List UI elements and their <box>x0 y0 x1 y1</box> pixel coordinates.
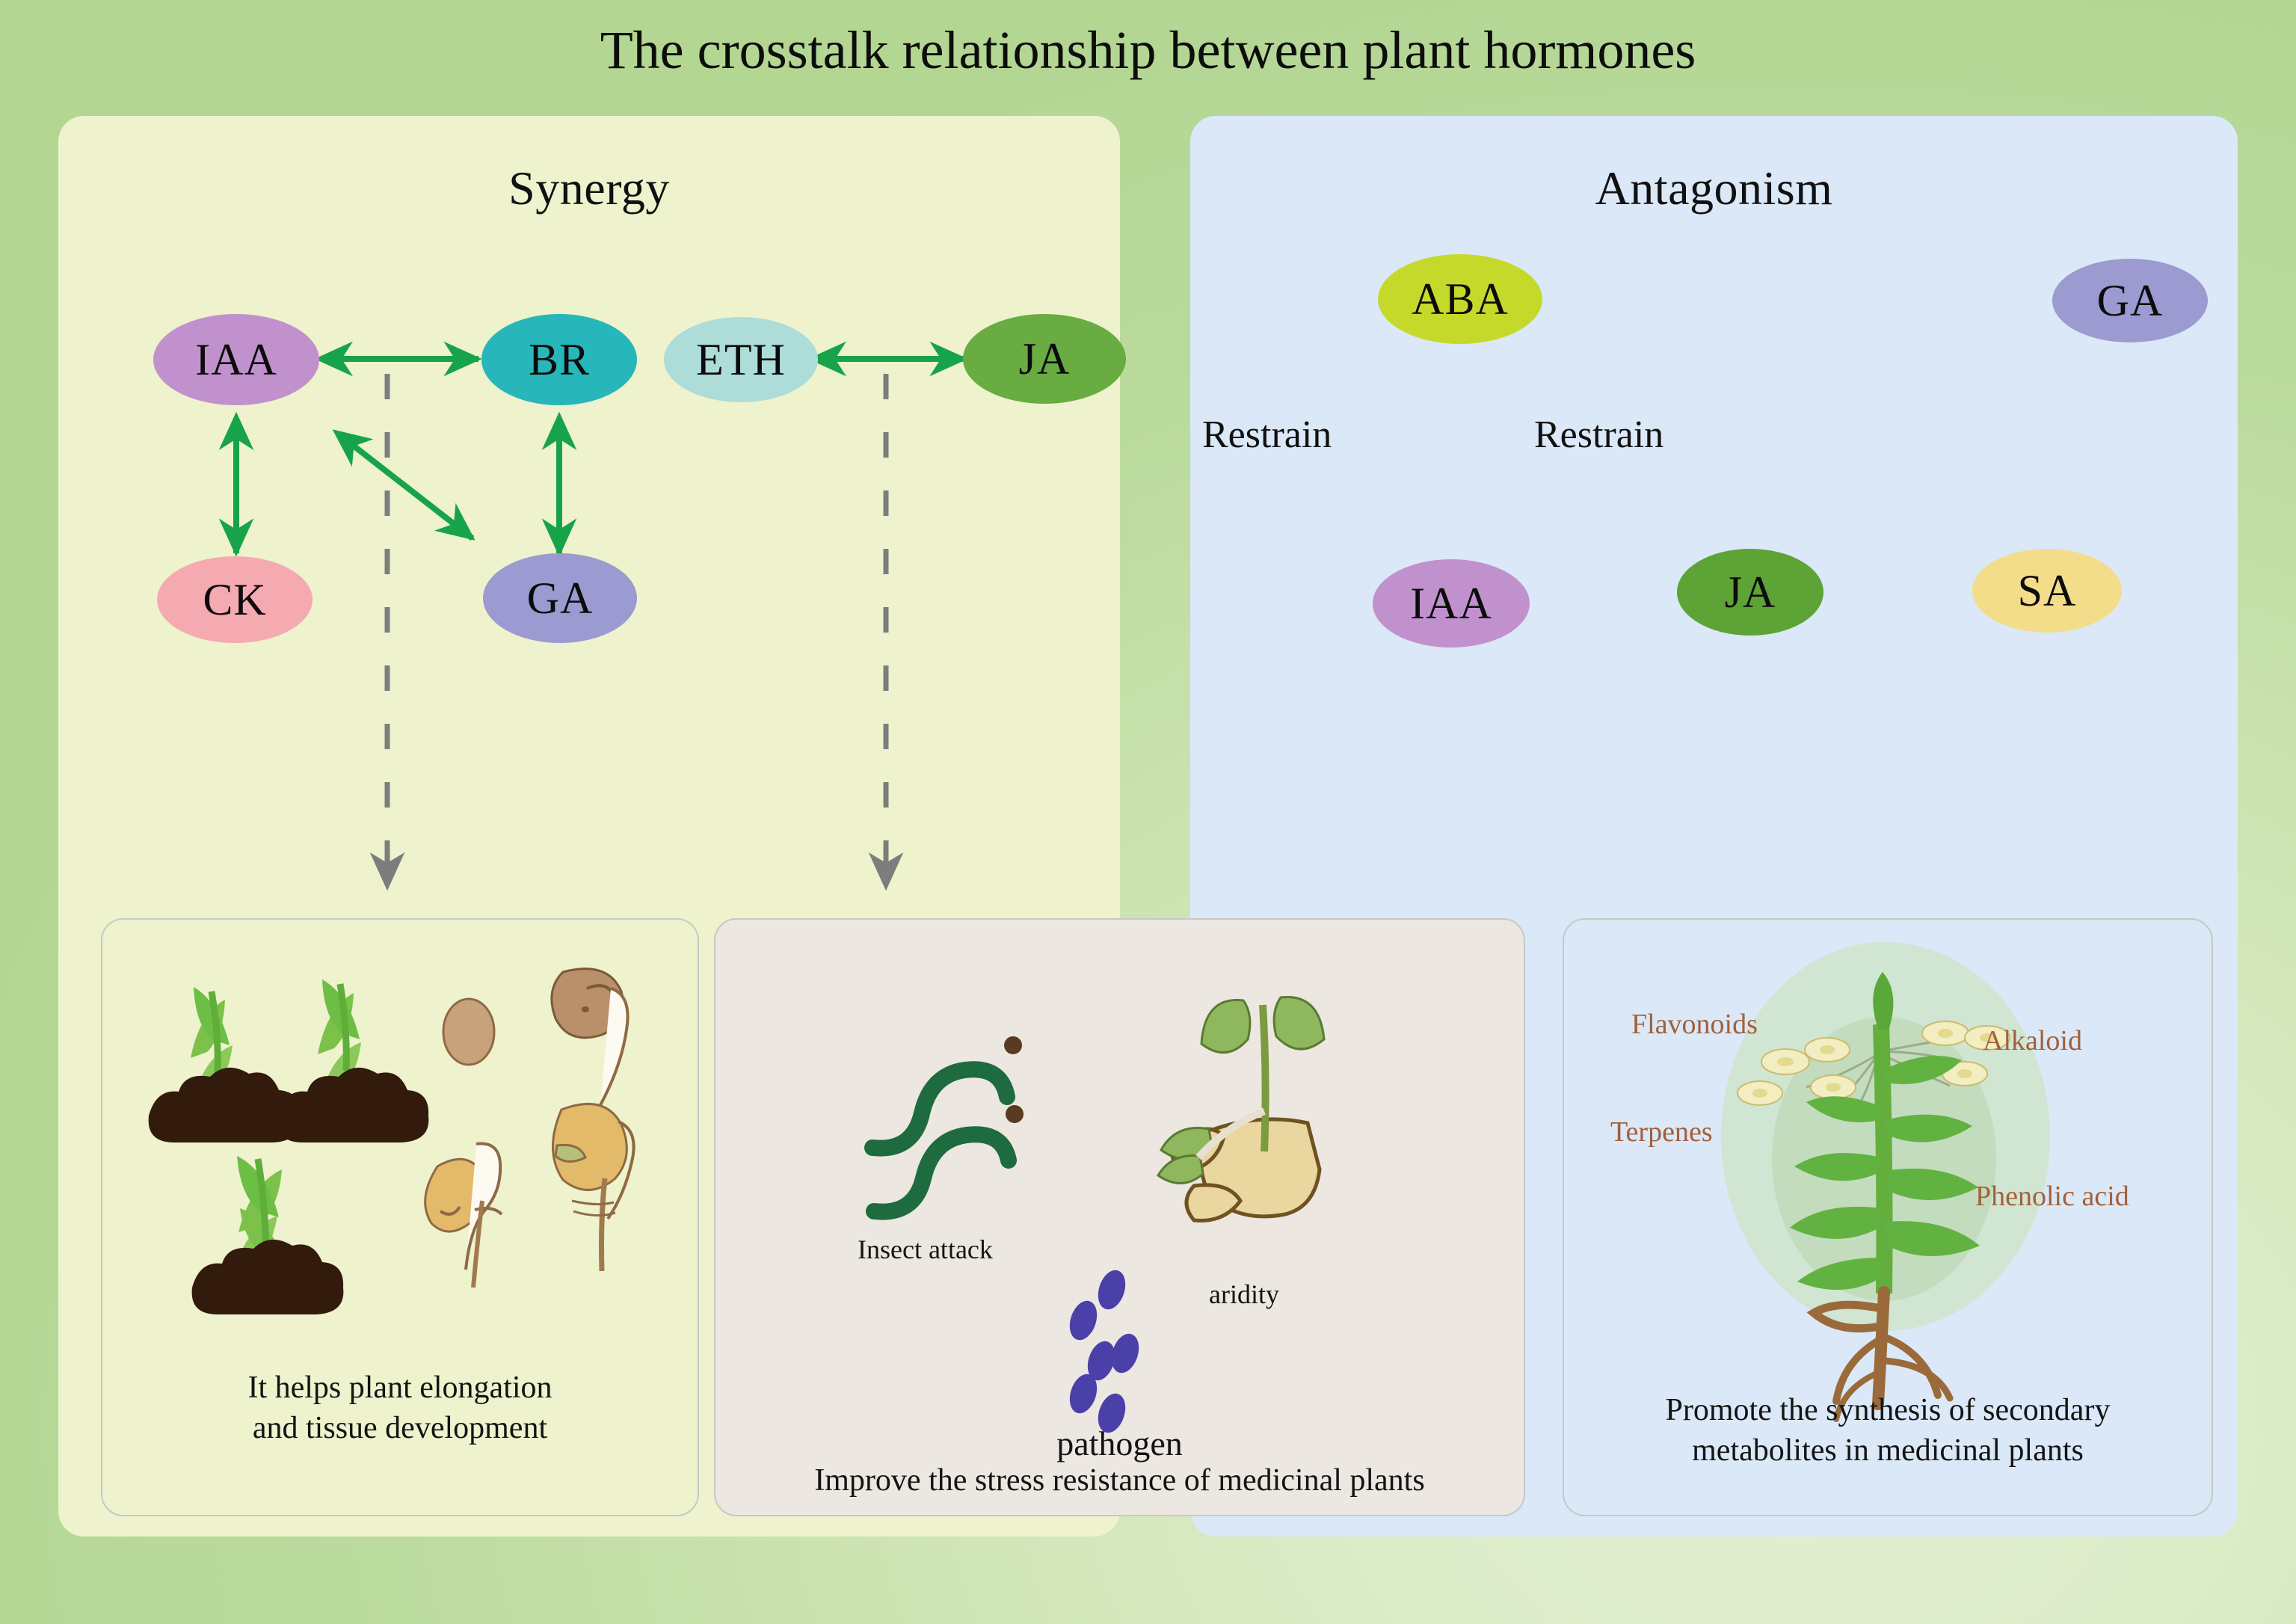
node-label: ETH <box>696 337 786 382</box>
label-alkaloid: Alkaloid <box>1983 1024 2082 1057</box>
node-antagonism-iaa[interactable]: IAA <box>1373 559 1530 648</box>
node-label: BR <box>529 337 590 382</box>
node-label: JA <box>1725 570 1776 615</box>
panel-synergy-title: Synergy <box>58 161 1120 216</box>
seedling-icon <box>277 979 429 1142</box>
box-right-caption: Promote the synthesis of secondary metab… <box>1564 1391 2212 1471</box>
info-box-stress-resistance: Insect attack aridity pathogen Improve t… <box>714 918 1525 1516</box>
box-mid-caption: Improve the stress resistance of medicin… <box>715 1461 1524 1501</box>
stress-illustration <box>715 920 1527 1443</box>
node-antagonism-sa[interactable]: SA <box>1972 549 2122 633</box>
label-terpenes: Terpenes <box>1610 1116 1713 1148</box>
node-label: GA <box>527 576 594 621</box>
node-label: IAA <box>195 337 277 382</box>
node-label: ABA <box>1412 277 1509 322</box>
label-aridity: aridity <box>1209 1279 1279 1310</box>
germinating-seed-icon <box>425 1144 502 1288</box>
box-left-caption: It helps plant elongation and tissue dev… <box>102 1368 698 1449</box>
node-synergy-ck[interactable]: CK <box>157 556 313 643</box>
seedling-icon <box>192 1156 344 1314</box>
panel-antagonism-title: Antagonism <box>1190 161 2238 216</box>
germinating-seed-icon <box>553 1104 633 1271</box>
germinating-seed-icon <box>552 969 628 1105</box>
node-synergy-ga[interactable]: GA <box>483 553 637 643</box>
node-antagonism-aba[interactable]: ABA <box>1378 254 1542 344</box>
node-synergy-eth[interactable]: ETH <box>664 317 818 402</box>
insect-worm-icon <box>874 1105 1024 1212</box>
plant-stem <box>1881 1024 1885 1294</box>
insect-worm-icon <box>872 1036 1022 1148</box>
page-title: The crosstalk relationship between plant… <box>0 19 2296 81</box>
node-antagonism-ga[interactable]: GA <box>2052 259 2208 342</box>
label-flavonoids: Flavonoids <box>1631 1008 1758 1041</box>
node-label: CK <box>203 577 266 622</box>
seedling-illustration <box>102 920 701 1398</box>
info-box-elongation: It helps plant elongation and tissue dev… <box>101 918 699 1516</box>
aridity-icon <box>1158 997 1324 1220</box>
node-label: JA <box>1019 336 1071 381</box>
pathogen-icon <box>1065 1267 1143 1436</box>
label-phenolic-acid: Phenolic acid <box>1975 1180 2129 1213</box>
label-insect-attack: Insect attack <box>858 1234 993 1265</box>
info-box-metabolites: Flavonoids Alkaloid Terpenes Phenolic ac… <box>1563 918 2213 1516</box>
restrain-label-ja: Restrain <box>1534 413 1663 457</box>
node-synergy-br[interactable]: BR <box>481 314 637 405</box>
medicinal-plant-illustration <box>1564 920 2215 1428</box>
label-pathogen: pathogen <box>715 1422 1524 1466</box>
diagram-canvas: The crosstalk relationship between plant… <box>0 0 2296 1624</box>
node-synergy-iaa[interactable]: IAA <box>153 314 319 405</box>
node-label: GA <box>2097 278 2164 323</box>
restrain-label-iaa: Restrain <box>1202 413 1332 457</box>
node-synergy-ja[interactable]: JA <box>963 314 1126 404</box>
node-antagonism-ja[interactable]: JA <box>1677 549 1823 636</box>
node-label: SA <box>2018 568 2077 613</box>
node-label: IAA <box>1410 581 1492 626</box>
seed-icon <box>443 999 494 1065</box>
